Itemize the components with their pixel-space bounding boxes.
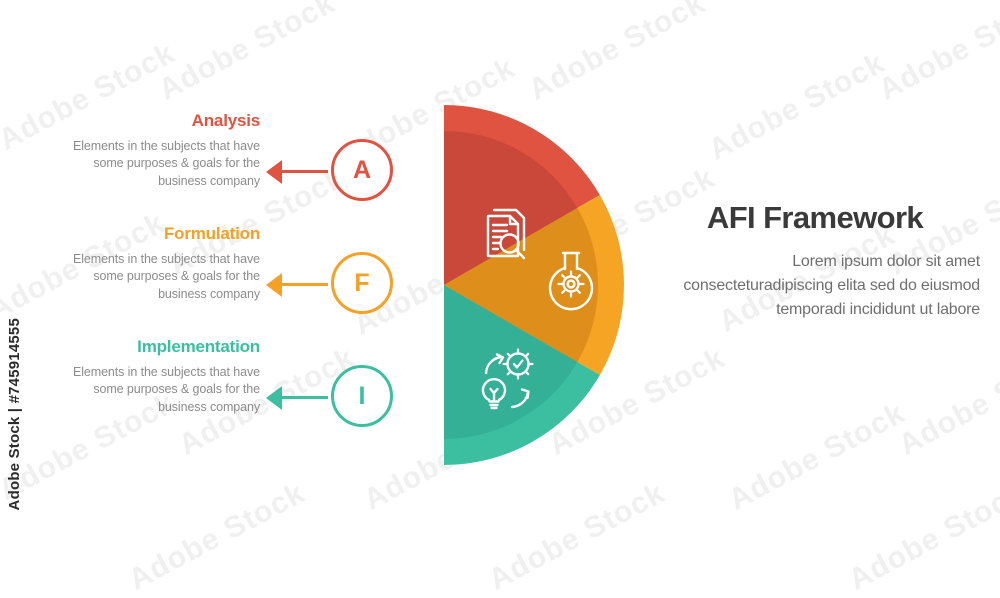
page-description: Lorem ipsum dolor sit amet consecteturad… xyxy=(650,250,980,323)
watermark-tile: Adobe Stock xyxy=(703,46,891,167)
watermark-tile: Adobe Stock xyxy=(843,476,1000,597)
watermark-tile: Adobe Stock xyxy=(523,0,711,108)
half-pie-svg xyxy=(258,99,630,471)
watermark-tile: Adobe Stock xyxy=(873,0,1000,108)
infographic-canvas: Adobe Stock Adobe Stock Adobe Stock Adob… xyxy=(0,0,1000,563)
watermark-tile: Adobe Stock xyxy=(893,341,1000,462)
step-text-block: Analysis Elements in the subjects that h… xyxy=(60,112,260,191)
step-text-block: Implementation Elements in the subjects … xyxy=(60,338,260,417)
step-description: Elements in the subjects that have some … xyxy=(60,364,260,417)
step-text-block: Formulation Elements in the subjects tha… xyxy=(60,225,260,304)
step-title: Formulation xyxy=(60,225,260,244)
main-content-panel: AFI Framework Lorem ipsum dolor sit amet… xyxy=(650,200,980,323)
watermark-tile: Adobe Stock xyxy=(483,476,671,597)
step-description: Elements in the subjects that have some … xyxy=(60,138,260,191)
half-pie-diagram xyxy=(258,99,630,471)
step-description: Elements in the subjects that have some … xyxy=(60,251,260,304)
watermark-tile: Adobe Stock xyxy=(723,396,911,517)
step-title: Implementation xyxy=(60,338,260,357)
page-title: AFI Framework xyxy=(650,200,980,236)
step-title: Analysis xyxy=(60,112,260,131)
